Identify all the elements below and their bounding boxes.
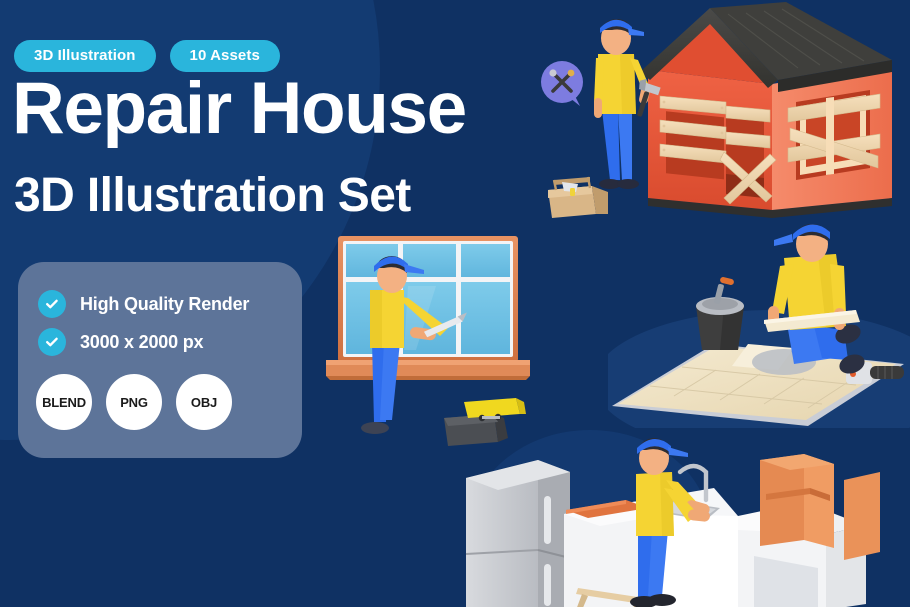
feature-label: High Quality Render: [80, 294, 249, 315]
feature-item-quality: High Quality Render: [38, 290, 249, 318]
refrigerator: [466, 460, 570, 607]
tools-bubble-icon: [541, 61, 583, 106]
adhesive-bucket-icon: [696, 276, 744, 350]
page-title: Repair House: [12, 72, 466, 145]
illustration-repair-house: [540, 2, 910, 224]
illustration-floor-tiling: [608, 222, 910, 428]
format-pill-row: BLEND PNG OBJ: [36, 374, 232, 430]
poster-canvas: 3D Illustration 10 Assets Repair House 3…: [0, 0, 910, 607]
format-pill-png[interactable]: PNG: [106, 374, 162, 430]
page-subtitle: 3D Illustration Set: [14, 172, 411, 220]
check-icon: [38, 328, 66, 356]
format-pill-obj[interactable]: OBJ: [176, 374, 232, 430]
feature-card: High Quality Render 3000 x 2000 px BLEND…: [18, 262, 302, 458]
feature-item-resolution: 3000 x 2000 px: [38, 328, 203, 356]
format-pill-blend[interactable]: BLEND: [36, 374, 92, 430]
check-icon: [38, 290, 66, 318]
wooden-toolbox-icon: [548, 177, 608, 218]
illustration-window-repair: [312, 232, 564, 454]
illustration-kitchen-install: [448, 438, 910, 607]
feature-label: 3000 x 2000 px: [80, 332, 203, 353]
